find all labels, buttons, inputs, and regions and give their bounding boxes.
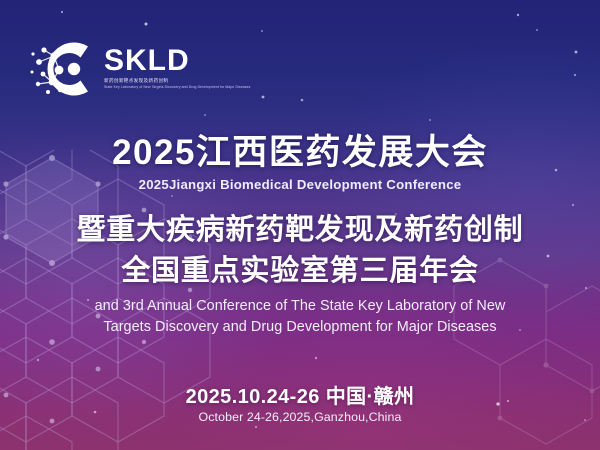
skld-molecular-c-logo-icon — [30, 34, 102, 104]
skld-lab-name-en: State Key Laboratory of New Targets Disc… — [104, 85, 250, 89]
poster-subtitle-cn-line1: 暨重大疾病新药靶发现及新药创制 — [0, 211, 600, 249]
poster-subtitle-en-line1: and 3rd Annual Conference of The State K… — [0, 297, 600, 316]
skld-lab-name-cn: 新药创新靶点发现及新药创制 — [104, 78, 250, 84]
poster-subtitle-en-line2: Targets Discovery and Drug Development f… — [0, 318, 600, 337]
skld-wordmark: SKLD — [104, 46, 250, 76]
poster-date-location-en: October 24-26,2025,Ganzhou,China — [0, 409, 600, 426]
poster-title-en: 2025Jiangxi Biomedical Development Confe… — [0, 176, 600, 193]
conference-poster: SKLD 新药创新靶点发现及新药创制 State Key Laboratory … — [0, 0, 600, 450]
skld-logo-text: SKLD 新药创新靶点发现及新药创制 State Key Laboratory … — [104, 34, 250, 89]
skld-logo: SKLD 新药创新靶点发现及新药创制 State Key Laboratory … — [30, 34, 250, 104]
poster-date-location-cn: 2025.10.24-26 中国·赣州 — [0, 384, 600, 410]
poster-subtitle-cn-line2: 全国重点实验室第三届年会 — [0, 252, 600, 290]
poster-title-cn: 2025江西医药发展大会 — [0, 131, 600, 175]
